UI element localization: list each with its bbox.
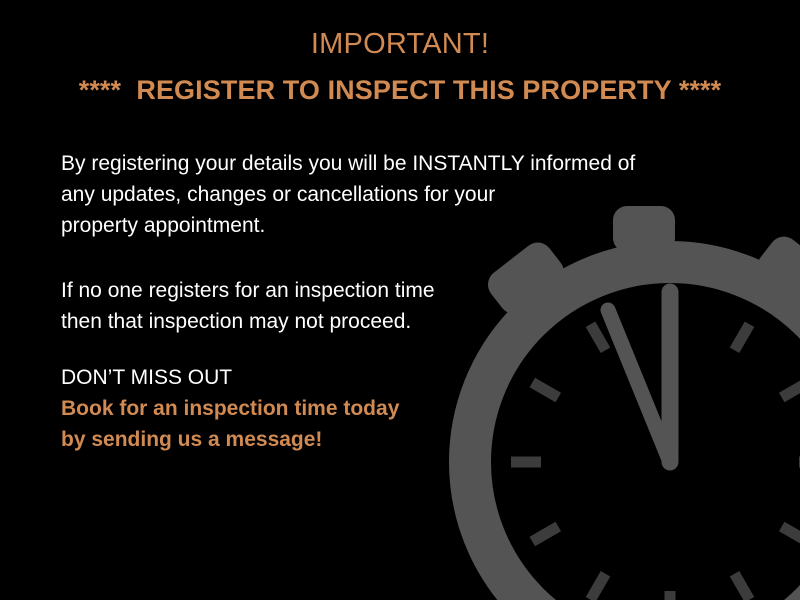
paragraph-registering-details: By registering your details you will be …: [61, 148, 635, 241]
headline-important: IMPORTANT!: [0, 29, 800, 61]
text-content: IMPORTANT! **** REGISTER TO INSPECT THIS…: [0, 0, 800, 600]
cta-dont-miss-out: DON’T MISS OUT: [61, 362, 232, 393]
headline-register-to-inspect: **** REGISTER TO INSPECT THIS PROPERTY *…: [0, 76, 800, 106]
paragraph-no-one-registers: If no one registers for an inspection ti…: [61, 275, 435, 337]
slide-canvas: IMPORTANT! **** REGISTER TO INSPECT THIS…: [0, 0, 800, 600]
cta-book-inspection: Book for an inspection time today by sen…: [61, 393, 399, 455]
